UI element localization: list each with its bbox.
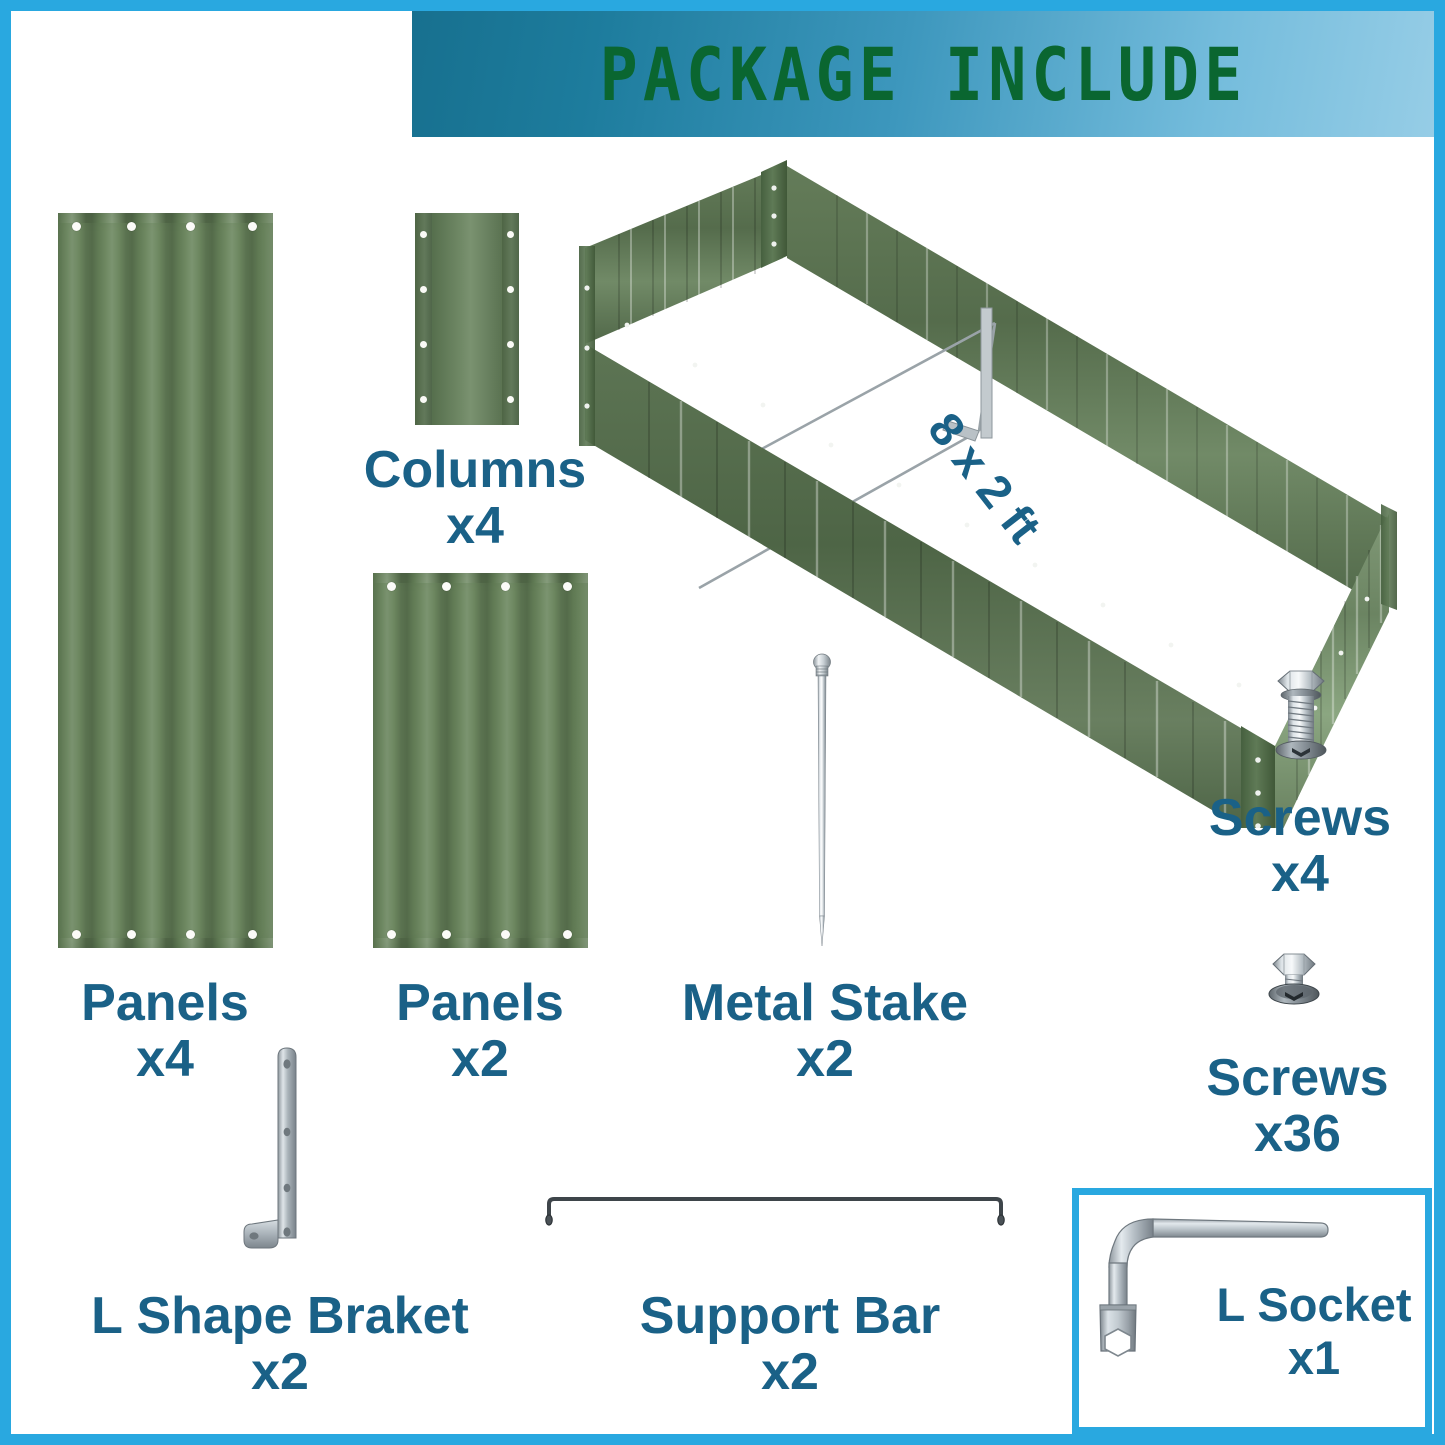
mount-hole bbox=[501, 930, 510, 939]
part-image-screws-hex-bolt bbox=[1255, 663, 1345, 773]
mount-hole bbox=[186, 930, 195, 939]
stake-shaft bbox=[818, 676, 826, 916]
bed-corner-post-left bbox=[579, 246, 595, 446]
mount-hole bbox=[501, 582, 510, 591]
screw-hex-head bbox=[1273, 954, 1315, 975]
column-flange-left bbox=[415, 213, 432, 425]
mount-hole bbox=[249, 1232, 258, 1239]
support-bar-end-right bbox=[998, 1215, 1004, 1225]
part-label-text: L Shape Braket bbox=[91, 1287, 469, 1345]
mount-hole bbox=[284, 1128, 291, 1136]
support-bar-end-left bbox=[546, 1215, 552, 1225]
part-image-screws-flange bbox=[1247, 948, 1337, 1016]
mount-hole bbox=[442, 930, 451, 939]
part-label-l-bracket: L Shape Braket x2 bbox=[30, 1288, 530, 1400]
part-label-support-bar: Support Bar x2 bbox=[570, 1288, 1010, 1400]
part-qty-text: x4 bbox=[330, 498, 620, 554]
socket-vertical-shaft bbox=[1109, 1263, 1127, 1309]
support-bar-rod bbox=[549, 1199, 1001, 1218]
mount-hole bbox=[387, 582, 396, 591]
part-label-screws-flange: Screws x36 bbox=[1160, 1050, 1435, 1162]
package-include-infographic: PACKAGE INCLUDE Panels x4 Columns x4 bbox=[0, 0, 1445, 1445]
part-label-metal-stake: Metal Stake x2 bbox=[640, 975, 1010, 1087]
stake-tip bbox=[820, 916, 825, 946]
part-label-text: Support Bar bbox=[640, 1287, 940, 1345]
part-label-panels-short: Panels x2 bbox=[335, 975, 625, 1087]
part-qty-text: x4 bbox=[1175, 846, 1425, 902]
mount-hole bbox=[563, 582, 572, 591]
part-image-metal-stake bbox=[805, 648, 839, 948]
part-qty-text: x2 bbox=[335, 1031, 625, 1087]
mount-hole bbox=[72, 930, 81, 939]
part-image-panels-long bbox=[58, 213, 273, 948]
mount-hole bbox=[442, 582, 451, 591]
mount-hole bbox=[563, 930, 572, 939]
column-web bbox=[432, 213, 502, 425]
bed-corner-post-back bbox=[761, 160, 787, 268]
part-qty-text: x2 bbox=[30, 1344, 530, 1400]
mount-hole bbox=[507, 231, 514, 238]
part-label-panels-long: Panels x4 bbox=[20, 975, 310, 1087]
part-image-panels-short bbox=[373, 573, 588, 948]
mount-hole bbox=[284, 1184, 291, 1192]
mount-hole bbox=[127, 222, 136, 231]
part-label-screws-hex-bolt: Screws x4 bbox=[1175, 790, 1425, 902]
column-flange-right bbox=[502, 213, 519, 425]
bed-corner-post-right bbox=[1381, 504, 1397, 610]
mount-hole bbox=[507, 286, 514, 293]
part-label-text: Screws bbox=[1209, 789, 1391, 847]
mount-hole bbox=[420, 396, 427, 403]
mount-hole bbox=[507, 341, 514, 348]
part-label-columns: Columns x4 bbox=[330, 442, 620, 554]
part-qty-text: x1 bbox=[1288, 1331, 1340, 1384]
mount-hole bbox=[420, 286, 427, 293]
part-label-text: Screws bbox=[1206, 1049, 1388, 1107]
bracket-horizontal-leg bbox=[244, 1220, 278, 1248]
mount-hole bbox=[248, 222, 257, 231]
socket-horizontal-arm bbox=[1153, 1219, 1328, 1237]
mount-hole bbox=[387, 930, 396, 939]
l-socket-callout-box: L Socket x1 bbox=[1072, 1188, 1432, 1434]
part-label-text: Panels bbox=[81, 974, 249, 1032]
part-qty-text: x36 bbox=[1160, 1106, 1435, 1162]
mount-hole bbox=[248, 930, 257, 939]
part-label-text: L Socket bbox=[1216, 1278, 1411, 1331]
header-banner: PACKAGE INCLUDE bbox=[412, 11, 1434, 137]
mount-hole bbox=[420, 341, 427, 348]
part-label-text: Columns bbox=[364, 441, 586, 499]
mount-hole bbox=[186, 222, 195, 231]
socket-elbow bbox=[1109, 1219, 1153, 1267]
part-qty-text: x2 bbox=[640, 1031, 1010, 1087]
socket-hex-opening bbox=[1105, 1329, 1131, 1356]
part-qty-text: x2 bbox=[570, 1344, 1010, 1400]
page-title: PACKAGE INCLUDE bbox=[599, 31, 1247, 117]
part-label-text: Panels bbox=[396, 974, 564, 1032]
mount-hole bbox=[420, 231, 427, 238]
part-label-text: Metal Stake bbox=[682, 974, 968, 1032]
mount-hole bbox=[127, 930, 136, 939]
part-image-columns bbox=[415, 213, 519, 425]
part-qty-text: x4 bbox=[20, 1031, 310, 1087]
part-label-l-socket: L Socket x1 bbox=[1199, 1279, 1429, 1384]
mount-hole bbox=[507, 396, 514, 403]
mount-hole bbox=[283, 1227, 290, 1236]
mount-hole bbox=[72, 222, 81, 231]
part-image-support-bar bbox=[540, 1192, 1010, 1232]
